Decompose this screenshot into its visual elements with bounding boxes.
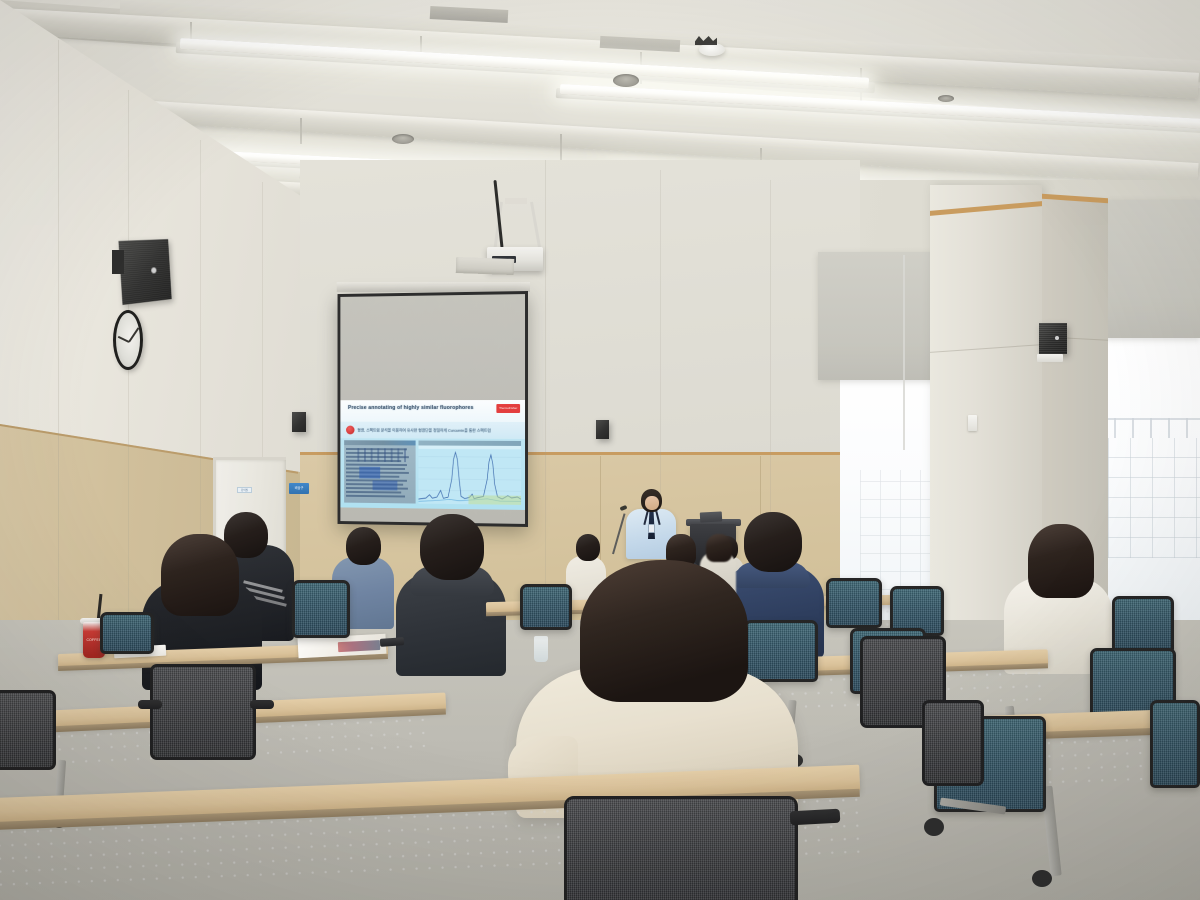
exit-wall-sign: 비상구 [289, 483, 309, 494]
left-wall-speaker-bracket [112, 250, 124, 274]
exterior-building-grid [1108, 438, 1200, 558]
door-sign: 강의실 [237, 487, 252, 493]
attendee-head [576, 534, 600, 561]
presenter-badge [648, 524, 655, 533]
chromatogram-trace [419, 445, 522, 504]
chair[interactable] [1112, 596, 1174, 654]
brochure-graphic [338, 640, 380, 652]
desk-caster [1032, 870, 1052, 887]
chair[interactable] [100, 612, 154, 654]
attendee-head [706, 534, 732, 562]
chair[interactable] [150, 664, 256, 760]
attendee-head [1028, 524, 1094, 598]
blind-pull-cord[interactable] [903, 255, 905, 450]
wall-clock-icon [113, 310, 143, 370]
slide-title: Precise annotating of highly similar flu… [348, 405, 474, 411]
chair[interactable] [520, 584, 572, 630]
chair-armrest [790, 809, 841, 826]
red-circle-badge-icon [346, 426, 355, 435]
chair[interactable] [0, 690, 56, 770]
chair[interactable] [1150, 700, 1200, 788]
slide-brand-logo: ThermoFisher [496, 404, 520, 413]
projection-screen-surface: Precise annotating of highly similar flu… [340, 294, 525, 524]
slide-table-column-bars [357, 448, 407, 462]
attendee-head [346, 527, 381, 565]
slide-logo-label: ThermoFisher [496, 404, 520, 413]
ceiling-spot-light [613, 74, 639, 87]
smartphone[interactable] [380, 637, 404, 647]
attendee-head [744, 512, 802, 572]
back-wall-seam [545, 160, 546, 630]
light-hanger [300, 118, 302, 144]
roller-blind-right[interactable] [818, 252, 948, 380]
chair-foreground[interactable] [564, 796, 798, 900]
chair-caster [924, 818, 944, 836]
projector-ceiling-mount [505, 198, 527, 204]
back-wall-speaker-right-icon [596, 420, 609, 439]
slide-data-table-panel [344, 440, 415, 503]
presenter-face [645, 496, 659, 510]
podium-laptop [700, 511, 722, 522]
slide-body [344, 440, 521, 505]
slide-chromatogram-panel [419, 441, 522, 505]
slide-subtitle-row: 형광, 스펙트럼 분석을 이용하여 유사한 형광단을 정밀하게 Curcumin… [340, 422, 525, 439]
light-hanger [560, 134, 562, 162]
water-bottle [534, 636, 548, 662]
pillar-speaker-icon [1039, 323, 1067, 354]
slide-subtitle: 형광, 스펙트럼 분석을 이용하여 유사한 형광단을 정밀하게 Curcumin… [357, 427, 491, 433]
pillar-outlet-plate[interactable] [1037, 354, 1063, 362]
door-sign-label: 강의실 [238, 488, 251, 494]
slide-table-toolbar [344, 440, 415, 445]
wall-sign-label: 비상구 [289, 483, 309, 494]
slide-table-highlight [359, 467, 380, 479]
left-wall-speaker-icon [118, 239, 171, 305]
chair-armrest [250, 700, 274, 709]
chair[interactable] [744, 620, 818, 682]
projection-screen: Precise annotating of highly similar flu… [338, 291, 528, 527]
attendee-foreground-hair [580, 560, 748, 702]
chair[interactable] [292, 580, 350, 638]
lecture-hall-photo: 강의실 비상구 Precise annotating of highly sim… [0, 0, 1200, 900]
exterior-building-grid [860, 470, 938, 590]
attendee-head [420, 514, 484, 580]
ceiling-spot-light [938, 95, 954, 102]
ceiling-air-vent [456, 257, 515, 275]
pillar-thermostat[interactable] [968, 415, 977, 431]
chair[interactable] [922, 700, 984, 786]
attendee-head [161, 534, 239, 616]
slide-table-highlight [373, 480, 398, 490]
ceiling-spot-light [392, 134, 414, 144]
chair-armrest [138, 700, 162, 709]
chair[interactable] [826, 578, 882, 628]
back-wall-speaker-icon [292, 412, 306, 432]
projected-slide: Precise annotating of highly similar flu… [340, 400, 525, 510]
